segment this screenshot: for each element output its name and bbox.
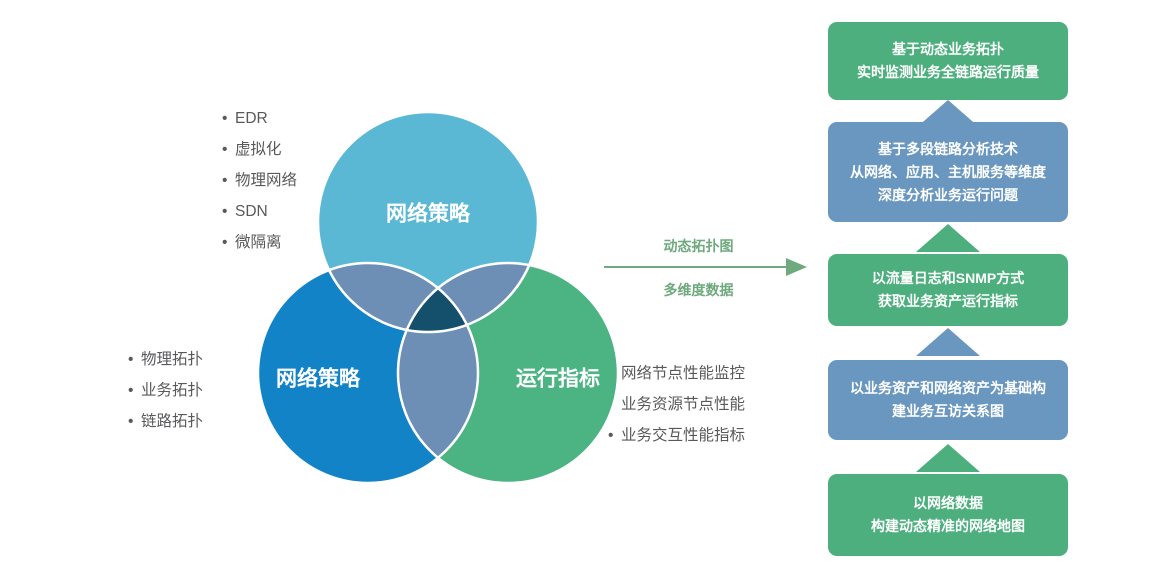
flow-box-metrics: 以流量日志和SNMP方式 获取业务资产运行指标 bbox=[828, 254, 1068, 326]
flow-box-assets: 以业务资产和网络资产为基础构 建业务互访关系图 bbox=[828, 360, 1068, 440]
transition-arrow-label-top: 动态拓扑图 bbox=[596, 236, 801, 256]
diagram-canvas: EDR 虚拟化 物理网络 SDN 微隔离 物理拓扑 业务拓扑 链路拓扑 网络节点… bbox=[0, 0, 1174, 582]
flow-box-line: 深度分析业务运行问题 bbox=[850, 184, 1046, 207]
venn-diagram: 网络策略 网络策略 运行指标 bbox=[250, 105, 580, 490]
venn-label-top: 网络策略 bbox=[386, 202, 471, 226]
flow-box-network-map: 以网络数据 构建动态精准的网络地图 bbox=[828, 474, 1068, 556]
arrow-right-icon bbox=[596, 258, 811, 276]
flow-box-line: 基于多段链路分析技术 bbox=[850, 138, 1046, 161]
list-item: 物理拓扑 bbox=[128, 344, 203, 375]
list-item: 业务拓扑 bbox=[128, 375, 203, 406]
flow-box-line: 获取业务资产运行指标 bbox=[872, 290, 1024, 313]
flow-arrow-up-2 bbox=[916, 224, 980, 252]
flow-box-line: 构建动态精准的网络地图 bbox=[871, 515, 1025, 538]
bullet-list-left: 物理拓扑 业务拓扑 链路拓扑 bbox=[128, 344, 203, 437]
flow-box-line: 以业务资产和网络资产为基础构 bbox=[850, 377, 1046, 400]
flow-arrow-up-3 bbox=[916, 328, 980, 356]
transition-arrow: 动态拓扑图 多维度数据 bbox=[596, 236, 816, 301]
list-item: 链路拓扑 bbox=[128, 406, 203, 437]
venn-label-right: 运行指标 bbox=[516, 367, 600, 391]
flow-box-line: 基于动态业务拓扑 bbox=[857, 38, 1039, 61]
transition-arrow-label-bottom: 多维度数据 bbox=[596, 280, 801, 300]
flow-box-line: 以网络数据 bbox=[871, 492, 1025, 515]
flow-box-top: 基于动态业务拓扑 实时监测业务全链路运行质量 bbox=[828, 22, 1068, 100]
flow-box-analysis: 基于多段链路分析技术 从网络、应用、主机服务等维度 深度分析业务运行问题 bbox=[828, 122, 1068, 222]
flow-arrow-up-4 bbox=[916, 444, 980, 472]
flow-box-line: 以流量日志和SNMP方式 bbox=[872, 267, 1024, 290]
venn-label-left: 网络策略 bbox=[276, 367, 361, 391]
flow-box-line: 实时监测业务全链路运行质量 bbox=[857, 61, 1039, 84]
flow-box-line: 建业务互访关系图 bbox=[850, 400, 1046, 423]
flow-box-line: 从网络、应用、主机服务等维度 bbox=[850, 161, 1046, 184]
